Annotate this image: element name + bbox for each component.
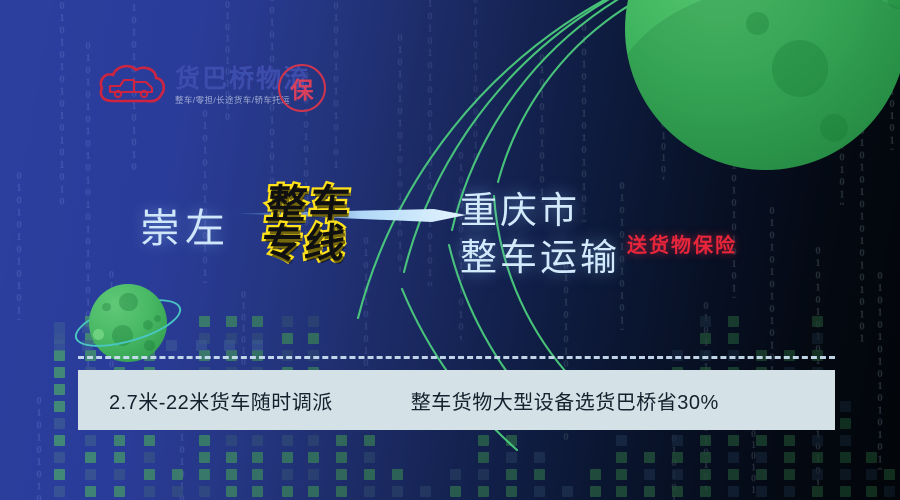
pixel-bar-cell <box>392 486 403 497</box>
pixel-bar-cell <box>756 469 767 480</box>
pixel-bar-cell <box>252 486 263 497</box>
pixel-bar-cell <box>172 469 183 480</box>
pixel-bar-cell <box>756 452 767 463</box>
pixel-bar-cell <box>812 452 823 463</box>
pixel-bar-cell <box>784 452 795 463</box>
pixel-bar-cell <box>420 486 431 497</box>
pixel-bar-cell <box>672 452 683 463</box>
pixel-bar-cell <box>884 469 895 480</box>
pixel-bar-cell <box>562 486 573 497</box>
pixel-bar-cell <box>812 469 823 480</box>
info-banner: 2.7米-22米货车随时调派 整车货物大型设备选货巴桥省30% <box>78 370 835 430</box>
pixel-bar-cell <box>812 486 823 497</box>
poster-canvas: 0101010101010101001010101010101010101010… <box>0 0 900 500</box>
pixel-bar-cell <box>308 486 319 497</box>
pixel-bar-cell <box>144 486 155 497</box>
binary-column: 0101010101010101010 <box>330 0 341 170</box>
origin-city: 崇左 <box>140 196 230 254</box>
pixel-bar-cell <box>308 469 319 480</box>
pixel-bar-cell <box>700 435 711 446</box>
pixel-bar-cell <box>812 333 823 344</box>
pixel-bar-cell <box>812 316 823 327</box>
pixel-bar-cell <box>700 469 711 480</box>
pixel-bar-cell <box>478 452 489 463</box>
banner-left-text: 2.7米-22米货车随时调派 <box>109 386 333 415</box>
pixel-bar-cell <box>478 435 489 446</box>
pixel-bar-cell <box>144 469 155 480</box>
pixel-bar-cell <box>54 367 65 378</box>
pixel-bar-cell <box>728 469 739 480</box>
pixel-bar-cell <box>172 486 183 497</box>
pixel-bar-cell <box>784 486 795 497</box>
pixel-bar-cell <box>616 435 627 446</box>
pixel-bar-cell <box>144 452 155 463</box>
pixel-bar-cell <box>308 435 319 446</box>
binary-column: 01010101010101010 <box>728 148 739 298</box>
pixel-bar-cell <box>282 486 293 497</box>
pixel-bar-cell <box>478 486 489 497</box>
pixel-bar-cell <box>224 340 235 351</box>
pixel-bar-cell <box>866 452 877 463</box>
pixel-bar-cell <box>54 469 65 480</box>
pixel-bar-cell <box>364 452 375 463</box>
pixel-bar-cell <box>336 435 347 446</box>
pixel-bar-cell <box>282 316 293 327</box>
pixel-bar-cell <box>534 486 545 497</box>
pixel-bar-cell <box>728 316 739 327</box>
destination-service: 整车运输 <box>460 237 620 278</box>
pixel-bar-cell <box>728 333 739 344</box>
pixel-bar-cell <box>506 452 517 463</box>
pixel-bar-cell <box>840 435 851 446</box>
pixel-bar-cell <box>364 435 375 446</box>
binary-column: 010101010101010101010 <box>766 205 777 395</box>
pixel-bar-cell <box>756 435 767 446</box>
destination-block: 重庆市 整车运输 <box>460 190 620 279</box>
pixel-bar-cell <box>85 452 96 463</box>
pixel-bar-cell <box>866 469 877 480</box>
destination-city: 重庆市 <box>460 190 620 231</box>
pixel-bar-cell <box>54 350 65 361</box>
pixel-bar-cell <box>226 316 237 327</box>
pixel-bar-cell <box>199 486 210 497</box>
pixel-bar-cell <box>700 452 711 463</box>
cloud-truck-icon <box>96 61 168 111</box>
pixel-bar-cell <box>616 469 627 480</box>
pixel-bar-cell <box>114 452 125 463</box>
pixel-bar-cell <box>226 486 237 497</box>
pixel-bar-cell <box>54 401 65 412</box>
pixel-bar-cell <box>840 418 851 429</box>
banner-right-text: 整车货物大型设备选货巴桥省30% <box>411 386 719 415</box>
pixel-bar-cell <box>590 486 601 497</box>
service-badge: 整车 专线 <box>245 170 369 280</box>
pixel-bar-cell <box>866 486 877 497</box>
binary-column: 01010101010101010 <box>536 52 547 202</box>
pixel-bar-cell <box>54 452 65 463</box>
pixel-bar-cell <box>672 469 683 480</box>
dashed-divider <box>78 356 835 359</box>
pixel-bar-cell <box>672 435 683 446</box>
pixel-bar-cell <box>282 333 293 344</box>
pixel-bar-cell <box>644 486 655 497</box>
pixel-bar-cell <box>884 486 895 497</box>
pixel-bar-cell <box>672 486 683 497</box>
pixel-bar-cell <box>616 452 627 463</box>
pixel-bar-cell <box>336 486 347 497</box>
pixel-bar-cell <box>534 452 545 463</box>
pixel-bar-cell <box>728 486 739 497</box>
pixel-bar-cell <box>700 486 711 497</box>
pixel-bar-cell <box>364 469 375 480</box>
pixel-bar-cell <box>728 435 739 446</box>
pixel-bar-cell <box>506 469 517 480</box>
badge-line-1: 整车 <box>264 186 355 225</box>
pixel-bar-cell <box>199 452 210 463</box>
pixel-bar-cell <box>700 316 711 327</box>
pixel-bar-cell <box>226 435 237 446</box>
pixel-bar-cell <box>85 469 96 480</box>
pixel-bar-cell <box>590 469 601 480</box>
pixel-bar-cell <box>392 469 403 480</box>
pixel-bar-cell <box>252 316 263 327</box>
pixel-bar-cell <box>450 469 461 480</box>
pixel-bar-cell <box>506 435 517 446</box>
green-planet-icon <box>625 0 900 170</box>
pixel-bar-cell <box>616 486 627 497</box>
pixel-bar-cell <box>54 435 65 446</box>
pixel-bar-cell <box>196 340 207 351</box>
badge-line-2: 专线 <box>259 225 350 264</box>
binary-column: 01010101010101 <box>33 395 44 500</box>
pixel-bar-cell <box>54 486 65 497</box>
pixel-bar-cell <box>308 333 319 344</box>
pixel-bar-cell <box>199 469 210 480</box>
pixel-bar-cell <box>700 333 711 344</box>
pixel-bar-cell <box>784 469 795 480</box>
pixel-bar-cell <box>450 486 461 497</box>
pixel-bar-cell <box>336 452 347 463</box>
binary-column: 01010101010101010101 <box>470 0 480 160</box>
pixel-bar-cell <box>252 340 263 351</box>
pixel-bar-cell <box>54 418 65 429</box>
pixel-bar-cell <box>506 486 517 497</box>
pixel-bar-cell <box>840 401 851 412</box>
pixel-bar-cell <box>114 469 125 480</box>
pixel-bar-cell <box>199 435 210 446</box>
pixel-bar-cell <box>728 452 739 463</box>
binary-column: 0101010101010101010101 <box>874 270 885 470</box>
pixel-bar-cell <box>644 469 655 480</box>
pixel-bar-cell <box>114 435 125 446</box>
binary-column: 0101010101010101010101010 <box>812 245 823 485</box>
pixel-bar-cell <box>840 486 851 497</box>
binary-column: 01010101010101010101010 <box>56 0 67 210</box>
pixel-bar-cell <box>252 469 263 480</box>
pixel-bar-cell <box>252 452 263 463</box>
insurance-note: 送货物保险 <box>627 229 737 258</box>
insurance-seal-icon: 保 <box>278 64 326 112</box>
pixel-bar-cell <box>199 316 210 327</box>
pixel-bar-cell <box>644 452 655 463</box>
pixel-bar-cell <box>478 469 489 480</box>
pixel-bar-cell <box>282 435 293 446</box>
pixel-bar-cell <box>282 469 293 480</box>
pixel-bar-cell <box>336 469 347 480</box>
pixel-bar-cell <box>54 384 65 395</box>
pixel-bar-cell <box>85 486 96 497</box>
pixel-bar-cell <box>226 452 237 463</box>
pixel-bar-cell <box>54 340 65 351</box>
pixel-bar-cell <box>534 469 545 480</box>
pixel-bar-cell <box>252 435 263 446</box>
pixel-bar-cell <box>282 452 293 463</box>
pixel-bar-cell <box>226 469 237 480</box>
pixel-bar-cell <box>812 435 823 446</box>
pixel-bar-cell <box>114 486 125 497</box>
pixel-bar-cell <box>784 435 795 446</box>
pixel-bar-cell <box>85 435 96 446</box>
ringed-planet-icon <box>73 274 183 374</box>
pixel-bar-cell <box>308 452 319 463</box>
pixel-bar-cell <box>308 316 319 327</box>
pixel-bar-cell <box>840 469 851 480</box>
binary-column: 0101010101010101010101010 <box>394 32 405 272</box>
binary-column: 0101010101010101010101010010101 <box>424 0 435 286</box>
binary-column: 01010101010101010 <box>13 170 24 320</box>
pixel-bar-cell <box>840 452 851 463</box>
pixel-bar-cell <box>756 486 767 497</box>
pixel-bar-cell <box>54 322 65 333</box>
pixel-bar-cell <box>364 486 375 497</box>
pixel-bar-cell <box>144 435 155 446</box>
